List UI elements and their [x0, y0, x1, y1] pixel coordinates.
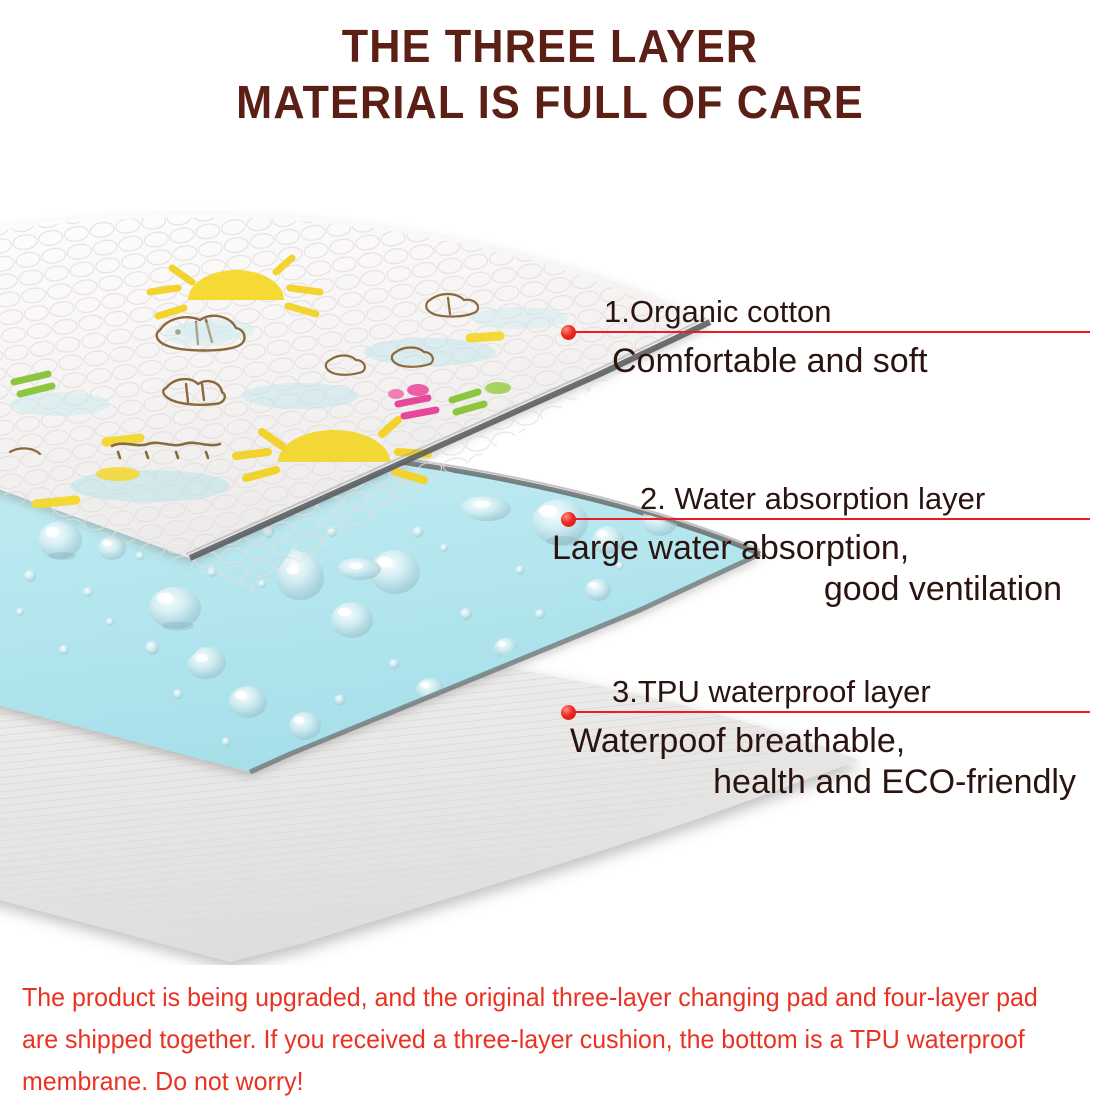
- callout-desc-line: health and ECO-friendly: [570, 762, 1076, 803]
- callout-description: Comfortable and soft: [612, 341, 928, 382]
- title-line-2: MATERIAL IS FULL OF CARE: [33, 74, 1067, 130]
- disclaimer-text: The product is being upgraded, and the o…: [22, 976, 1042, 1100]
- disclaimer-line-2: are shipped together. If you received a …: [22, 1018, 1042, 1060]
- callout-description: Large water absorption, good ventilation: [552, 528, 1062, 611]
- callout-line: [568, 711, 1090, 713]
- callout-heading: 2. Water absorption layer: [640, 483, 985, 514]
- callout-heading: 1.Organic cotton: [604, 296, 831, 327]
- disclaimer-line-3: membrane. Do not worry!: [22, 1060, 1042, 1100]
- callout-heading: 3.TPU waterproof layer: [612, 676, 931, 707]
- callout-desc-line: Waterpoof breathable,: [570, 721, 1076, 762]
- callout-desc-line: good ventilation: [552, 569, 1062, 610]
- disclaimer-line-1: The product is being upgraded, and the o…: [22, 976, 1042, 1018]
- callout-dot-icon: [561, 325, 576, 340]
- page-title: THE THREE LAYER MATERIAL IS FULL OF CARE: [0, 18, 1100, 130]
- title-line-1: THE THREE LAYER: [33, 18, 1067, 74]
- infographic-page: THE THREE LAYER MATERIAL IS FULL OF CARE: [0, 0, 1100, 1100]
- callout-desc-line: Large water absorption,: [552, 528, 1062, 569]
- callout-dot-icon: [561, 512, 576, 527]
- callout-desc-line: Comfortable and soft: [612, 341, 928, 382]
- callout-line: [568, 331, 1090, 333]
- callout-description: Waterpoof breathable, health and ECO-fri…: [570, 721, 1076, 804]
- callout-dot-icon: [561, 705, 576, 720]
- callout-line: [568, 518, 1090, 520]
